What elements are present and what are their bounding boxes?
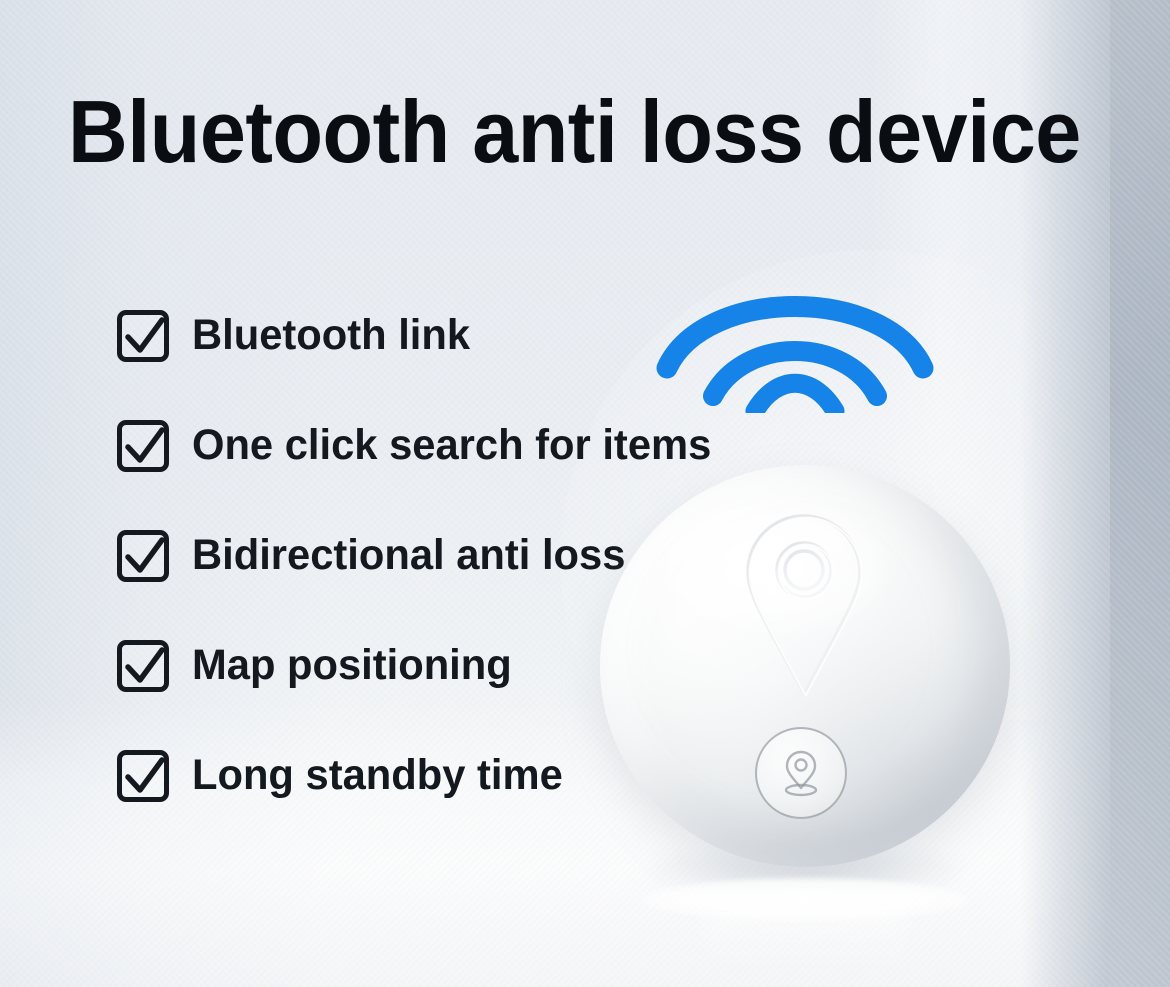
- feature-label: Long standby time: [192, 750, 563, 800]
- map-pin-emboss-icon: [740, 510, 868, 700]
- bluetooth-tracker-device[interactable]: [600, 465, 1010, 867]
- feature-label: Map positioning: [192, 640, 512, 690]
- location-pin-base-icon: [774, 746, 828, 800]
- checkbox-checked-icon[interactable]: [117, 310, 169, 362]
- device-action-button[interactable]: [755, 727, 847, 819]
- device-reflection-tail: [700, 900, 910, 987]
- checkbox-checked-icon[interactable]: [117, 530, 169, 582]
- feature-item-one-click-search[interactable]: One click search for items: [117, 420, 757, 530]
- feature-label: Bluetooth link: [192, 310, 470, 360]
- page-title: Bluetooth anti loss device: [68, 88, 1081, 176]
- checkbox-checked-icon[interactable]: [117, 640, 169, 692]
- feature-label: One click search for items: [192, 420, 711, 470]
- checkbox-checked-icon[interactable]: [117, 420, 169, 472]
- product-banner: Bluetooth anti loss device Bluetooth lin…: [0, 0, 1170, 987]
- feature-label: Bidirectional anti loss: [192, 530, 625, 580]
- wifi-signal-icon: [655, 268, 935, 413]
- checkbox-checked-icon[interactable]: [117, 750, 169, 802]
